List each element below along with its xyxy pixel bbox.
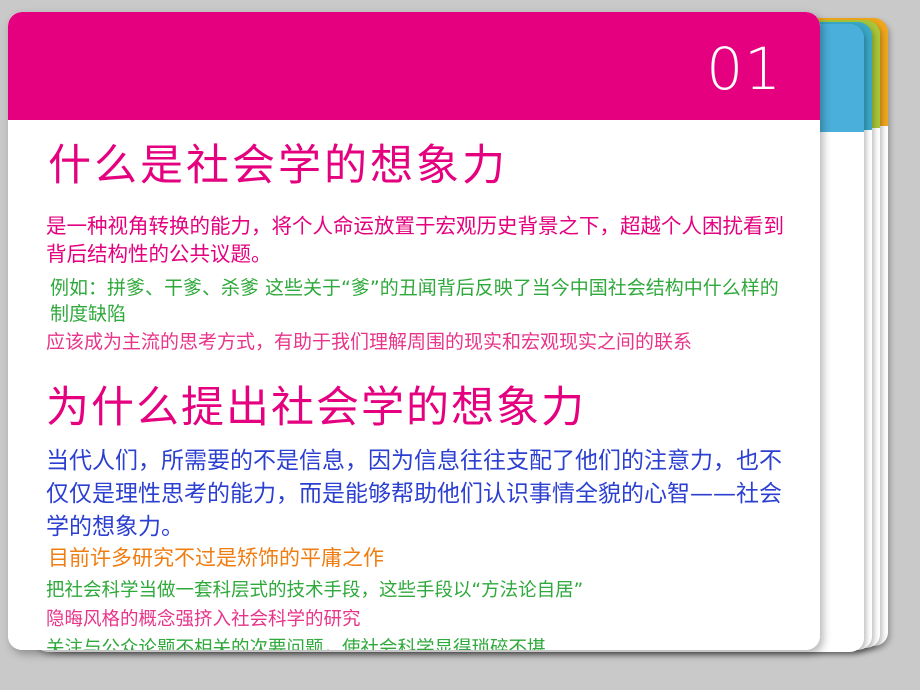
slide-card: 01 什么是社会学的想象力 是一种视角转换的能力，将个人命运放置于宏观历史背景之… — [8, 12, 820, 650]
section-title-2: 为什么提出社会学的想象力 — [46, 384, 586, 432]
paragraph-critique-item-3: 关注与公众论题不相关的次要问题，使社会科学显得琐碎不堪 — [46, 635, 791, 650]
paragraph-critique-item-2: 隐晦风格的概念强挤入社会科学的研究 — [46, 606, 791, 633]
paragraph-definition: 是一种视角转换的能力，将个人命运放置于宏观历史背景之下，超越个人困扰看到背后结构… — [46, 212, 791, 268]
slide-content: 什么是社会学的想象力 是一种视角转换的能力，将个人命运放置于宏观历史背景之下，超… — [8, 120, 820, 650]
paragraph-critique-item-1: 把社会科学当做一套科层式的技术手段，这些手段以“方法论自居” — [46, 577, 791, 604]
paragraph-research-critique: 目前许多研究不过是矫饰的平庸之作 — [48, 544, 788, 572]
paragraph-mainstream-thinking: 应该成为主流的思考方式，有助于我们理解周围的现实和宏观现实之间的联系 — [46, 329, 791, 355]
paragraph-need-not-information: 当代人们，所需要的不是信息，因为信息往往支配了他们的注意力，也不仅仅是理性思考的… — [46, 445, 786, 544]
paragraph-example: 例如：拼爹、干爹、杀爹 这些关于“爹”的丑闻背后反映了当今中国社会结构中什么样的… — [50, 275, 790, 327]
section-title-1: 什么是社会学的想象力 — [48, 142, 508, 190]
slide-number: 01 — [706, 40, 782, 98]
slide-header-bar: 01 — [8, 12, 820, 120]
